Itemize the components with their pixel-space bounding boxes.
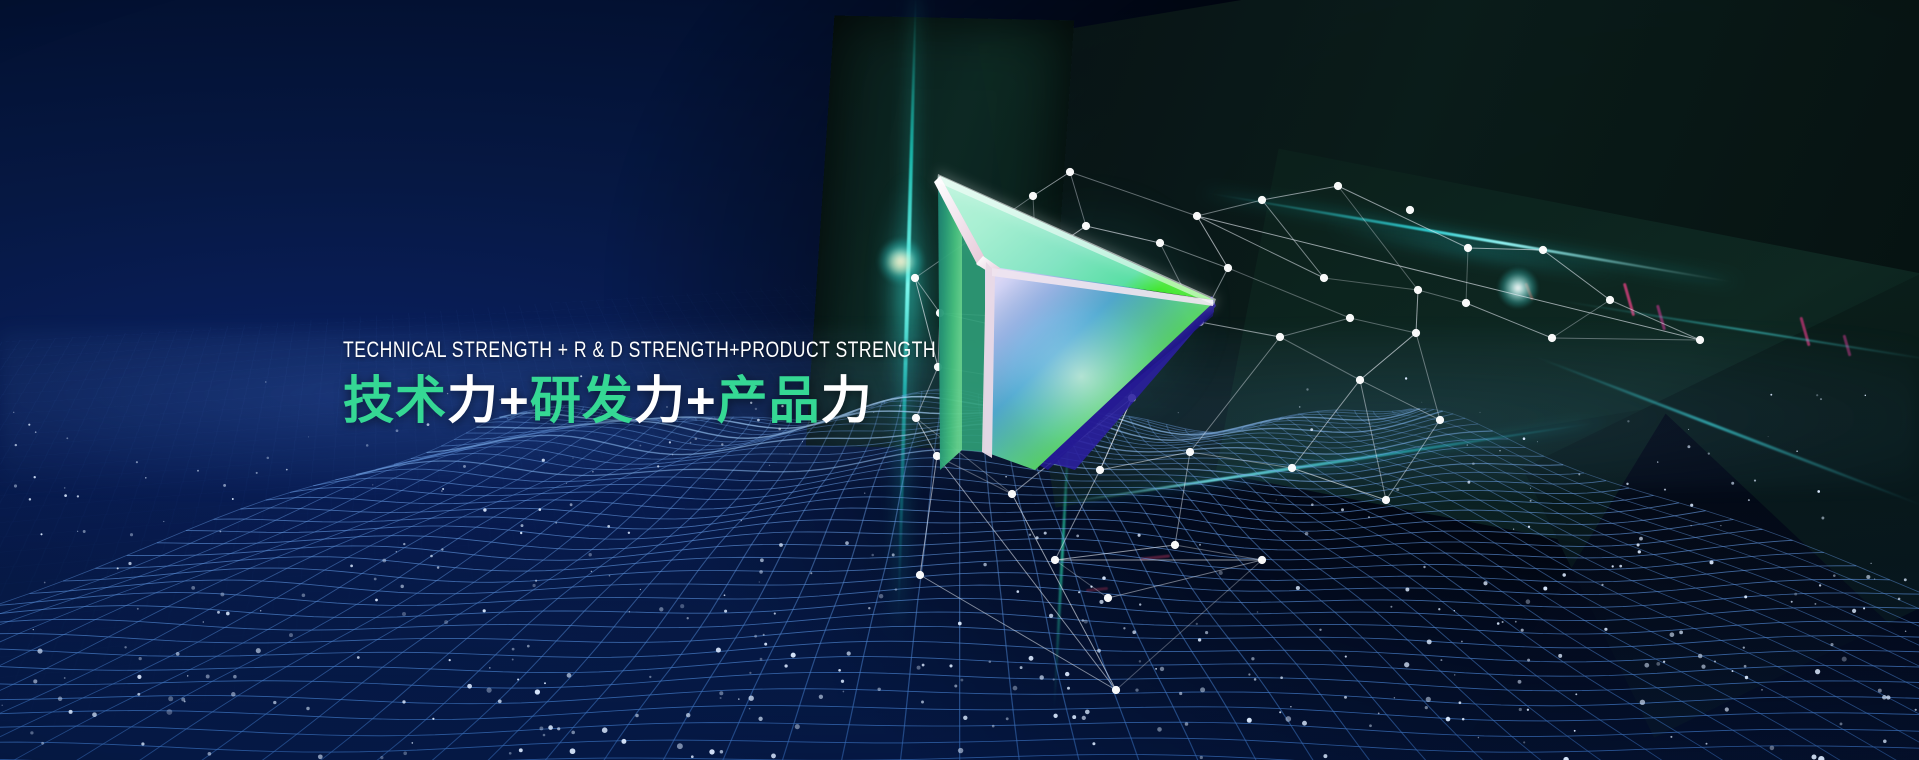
- headline-cn-part: 产品: [717, 372, 821, 429]
- hero-banner: TECHNICAL STRENGTH + R & D STRENGTH+PROD…: [0, 0, 1919, 760]
- headline-chinese: 技术力+研发力+产品力: [343, 372, 1243, 429]
- headline-cn-part: 技术: [343, 372, 447, 429]
- headline-english: TECHNICAL STRENGTH + R & D STRENGTH+PROD…: [343, 338, 1063, 361]
- headline-cn-part: 力: [634, 372, 686, 429]
- headline-cn-part: 力: [447, 372, 499, 429]
- headline-cn-part: 力: [821, 372, 873, 429]
- headline-cn-part: +: [499, 372, 530, 429]
- headline-cn-part: 研发: [530, 372, 634, 429]
- headline-cn-part: +: [686, 372, 717, 429]
- headline-block: TECHNICAL STRENGTH + R & D STRENGTH+PROD…: [343, 338, 1243, 429]
